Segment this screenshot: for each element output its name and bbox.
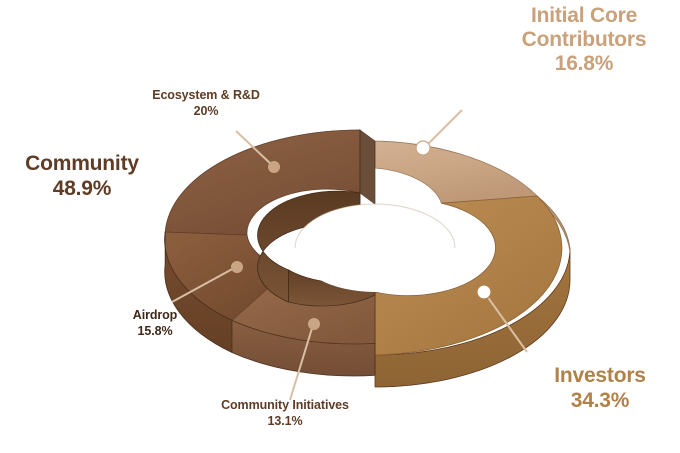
label-airdrop-name: Airdrop	[92, 308, 218, 322]
label-ecosystem-rnd: Ecosystem & R&D 20%	[116, 88, 296, 118]
leader-line-core-contributors	[424, 110, 462, 148]
leader-dot-core-contributors	[416, 141, 430, 155]
label-ecosystem-name: Ecosystem & R&D	[116, 88, 296, 102]
leader-dot-airdrop	[231, 261, 243, 273]
label-investors: Investors 34.3%	[524, 364, 676, 412]
leader-dot-investors	[477, 285, 491, 299]
label-investors-percent: 34.3%	[524, 389, 676, 413]
leader-dot-ecosystem	[268, 161, 280, 173]
donut-chart-figure: Initial Core Contributors 16.8% Investor…	[0, 0, 680, 453]
label-community-initiatives-name: Community Initiatives	[186, 398, 384, 412]
label-community-name: Community	[2, 152, 162, 176]
leader-dot-community-initiatives	[308, 318, 320, 330]
label-community-initiatives: Community Initiatives 13.1%	[186, 398, 384, 428]
label-investors-name: Investors	[524, 364, 676, 388]
label-community-percent: 48.9%	[2, 177, 162, 201]
label-community: Community 48.9%	[2, 152, 162, 200]
explode-gap-face-top-2	[360, 130, 375, 204]
label-ecosystem-percent: 20%	[116, 104, 296, 118]
donut-hole	[295, 204, 455, 292]
slice-core-contributors-top	[375, 141, 537, 203]
label-core-percent: 16.8%	[492, 52, 676, 76]
label-airdrop-percent: 15.8%	[92, 324, 218, 338]
label-community-initiatives-percent: 13.1%	[186, 414, 384, 428]
label-initial-core-contributors: Initial Core Contributors 16.8%	[492, 4, 676, 76]
label-core-name-line2: Contributors	[492, 28, 676, 52]
label-airdrop: Airdrop 15.8%	[92, 308, 218, 338]
label-core-name-line1: Initial Core	[492, 4, 676, 28]
